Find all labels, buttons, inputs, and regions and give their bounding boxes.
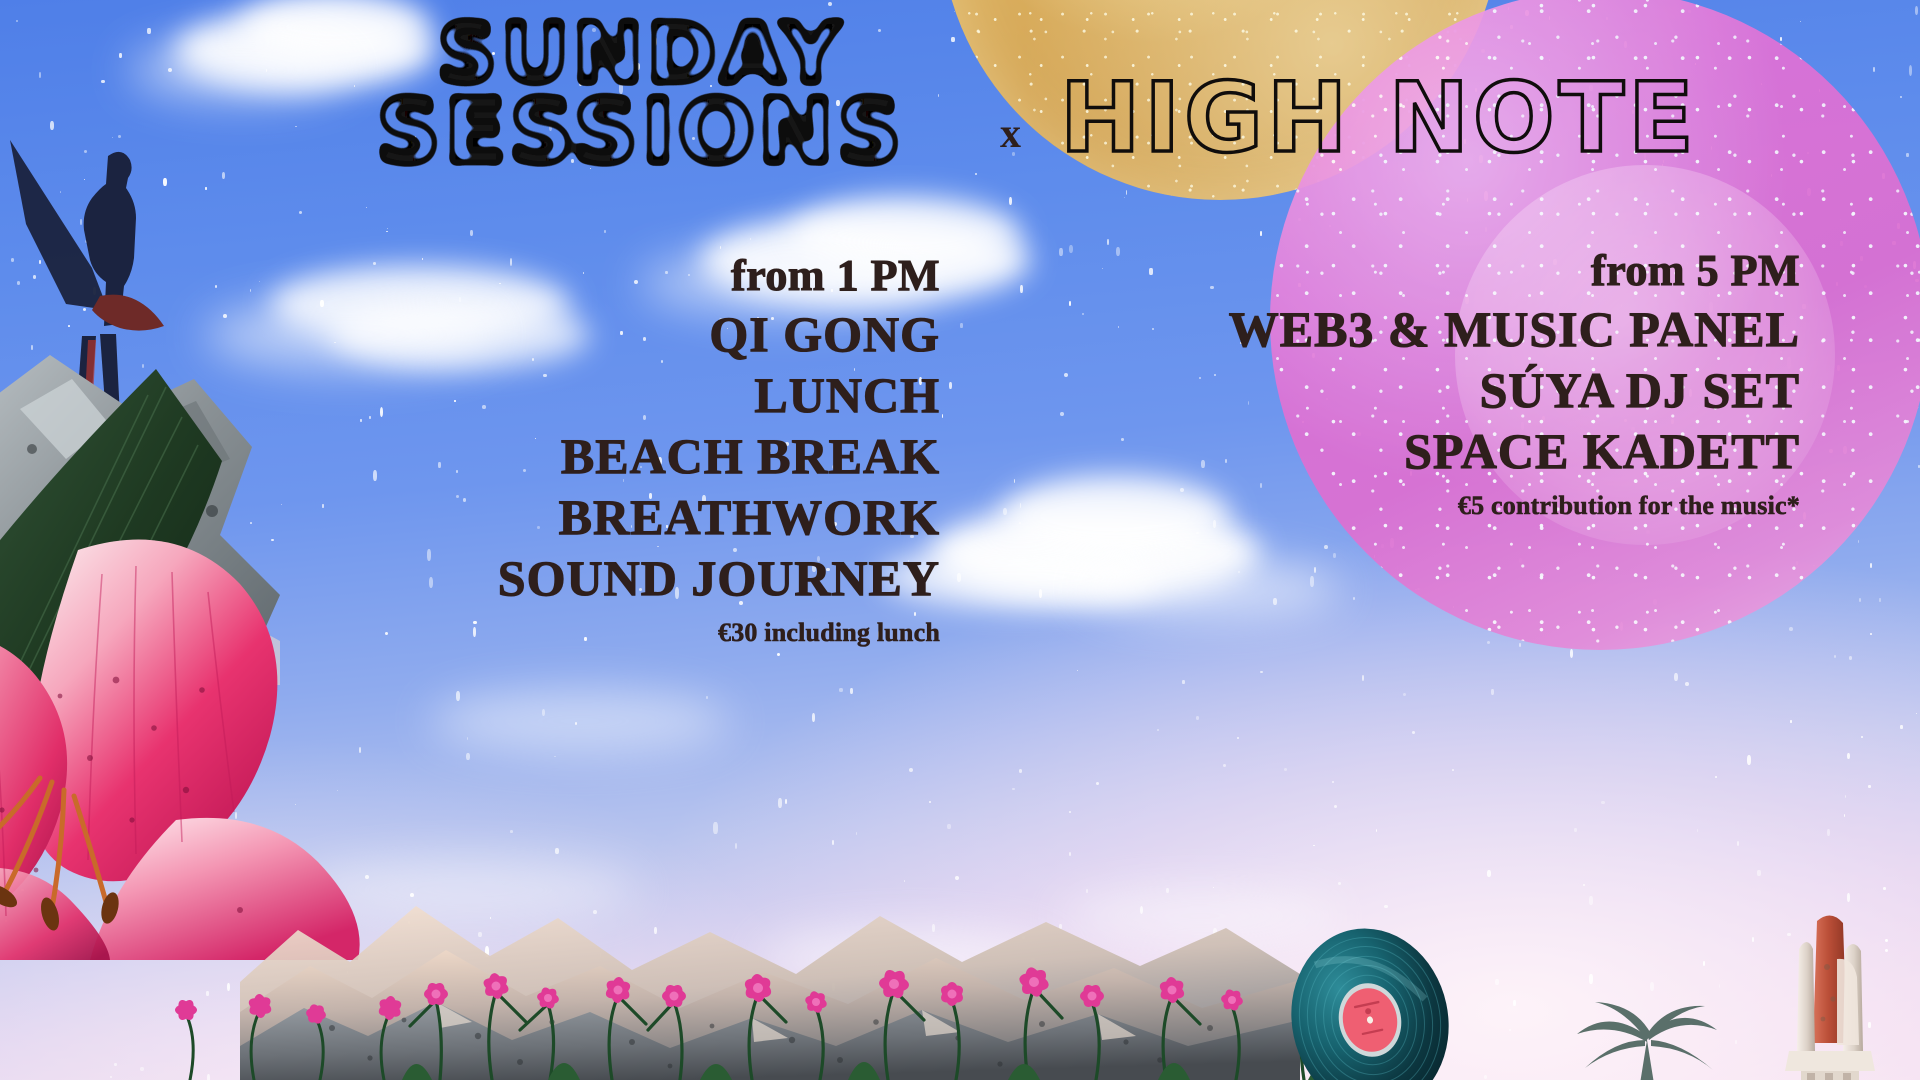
schedule-left-price-note: €30 including lunch bbox=[200, 615, 940, 651]
schedule-left-item: SOUND JOURNEY bbox=[200, 548, 940, 609]
schedule-right-price-note: €5 contribution for the music* bbox=[1000, 488, 1800, 524]
schedule-high-note: from 5 PM WEB3 & MUSIC PANEL SÚYA DJ SET… bbox=[1000, 245, 1800, 524]
title-sunday-sessions: SUNDAY SESSIONS bbox=[340, 18, 940, 171]
palm-tree-icon bbox=[1555, 1000, 1725, 1080]
title-high-note: HIGH NOTE bbox=[1060, 62, 1698, 174]
title-line-sessions: SESSIONS bbox=[340, 92, 940, 171]
schedule-left-item: QI GONG bbox=[200, 304, 940, 365]
schedule-left-item: BREATHWORK bbox=[200, 487, 940, 548]
schedule-right-item: SÚYA DJ SET bbox=[1000, 360, 1800, 421]
alpine-flower-heads bbox=[424, 965, 1380, 1014]
schedule-right-item: SPACE KADETT bbox=[1000, 421, 1800, 482]
collab-separator: x bbox=[1000, 110, 1021, 158]
event-poster: SUNDAY SESSIONS x HIGH NOTE from 1 PM QI… bbox=[0, 0, 1920, 1080]
schedule-right-item: WEB3 & MUSIC PANEL bbox=[1000, 299, 1800, 360]
schedule-left-item: BEACH BREAK bbox=[200, 426, 940, 487]
schedule-left-item: LUNCH bbox=[200, 365, 940, 426]
alpine-flowers-left-icon bbox=[150, 970, 430, 1080]
space-shuttle-icon bbox=[1775, 915, 1885, 1080]
schedule-right-from-label: from 5 PM bbox=[1000, 245, 1800, 297]
vinyl-record-icon bbox=[1275, 925, 1465, 1080]
schedule-left-from-label: from 1 PM bbox=[200, 250, 940, 302]
schedule-sunday-sessions: from 1 PM QI GONG LUNCH BEACH BREAK BREA… bbox=[200, 250, 940, 651]
